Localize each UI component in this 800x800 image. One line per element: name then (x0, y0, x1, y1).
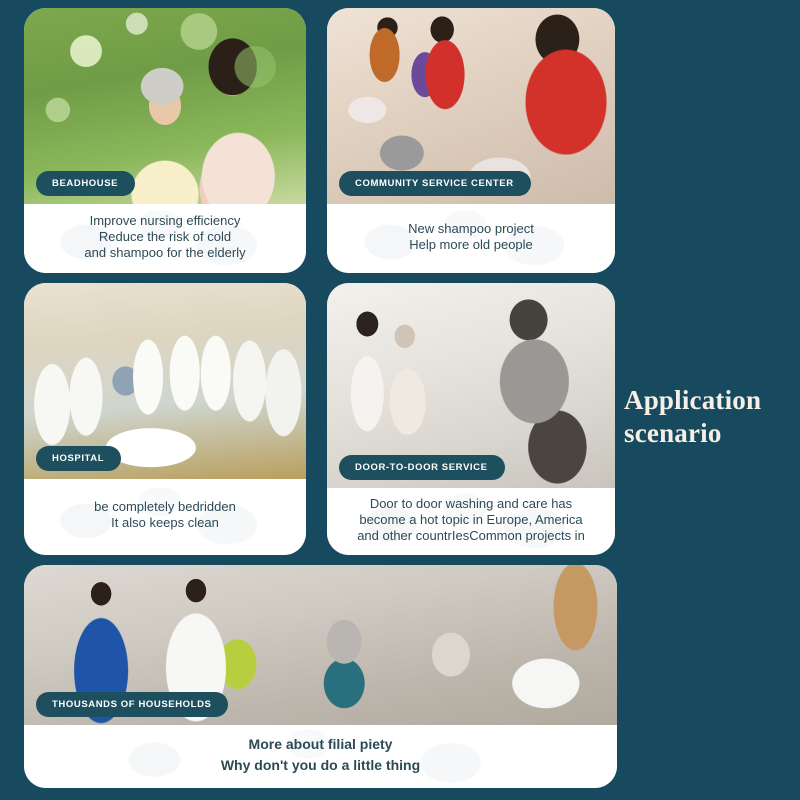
card-photo-households: THOUSANDS OF HOUSEHOLDS (24, 565, 617, 725)
badge-beadhouse: BEADHOUSE (36, 171, 135, 196)
scenario-card-beadhouse[interactable]: BEADHOUSE Improve nursing efficiency Red… (24, 8, 306, 273)
caption-line: and other countrIesCommon projects in (357, 528, 585, 544)
application-scenario-page: BEADHOUSE Improve nursing efficiency Red… (0, 0, 800, 800)
card-caption-households: More about filial piety Why don't you do… (24, 725, 617, 788)
card-photo-door-to-door: DOOR-TO-DOOR SERVICE (327, 283, 615, 488)
scenario-card-thousands-of-households[interactable]: THOUSANDS OF HOUSEHOLDS More about filia… (24, 565, 617, 788)
scenario-card-community-service-center[interactable]: COMMUNITY SERVICE CENTER New shampoo pro… (327, 8, 615, 273)
card-caption-hospital: be completely bedridden It also keeps cl… (24, 479, 306, 555)
card-caption-door-to-door: Door to door washing and care has become… (327, 488, 615, 555)
caption-line: More about filial piety (249, 734, 393, 755)
page-title: Application scenario (624, 384, 800, 450)
badge-community-service-center: COMMUNITY SERVICE CENTER (339, 171, 531, 196)
card-photo-community: COMMUNITY SERVICE CENTER (327, 8, 615, 204)
badge-hospital: HOSPITAL (36, 446, 121, 471)
card-caption-beadhouse: Improve nursing efficiency Reduce the ri… (24, 204, 306, 273)
card-photo-hospital: HOSPITAL (24, 283, 306, 479)
card-caption-community: New shampoo project Help more old people (327, 204, 615, 273)
caption-line: and shampoo for the elderly (84, 245, 245, 261)
page-title-line-1: Application (624, 384, 800, 417)
caption-line: Improve nursing efficiency (90, 213, 241, 229)
caption-line: Why don't you do a little thing (221, 755, 420, 776)
caption-line: Reduce the risk of cold (99, 229, 231, 245)
caption-line: Help more old people (409, 237, 533, 253)
caption-line: It also keeps clean (111, 515, 219, 531)
caption-line: New shampoo project (408, 221, 534, 237)
page-title-line-2: scenario (624, 417, 800, 450)
card-photo-beadhouse: BEADHOUSE (24, 8, 306, 204)
caption-line: Door to door washing and care has (370, 496, 572, 512)
caption-line: be completely bedridden (94, 499, 236, 515)
scenario-card-hospital[interactable]: HOSPITAL be completely bedridden It also… (24, 283, 306, 555)
scenario-card-door-to-door-service[interactable]: DOOR-TO-DOOR SERVICE Door to door washin… (327, 283, 615, 555)
caption-line: become a hot topic in Europe, America (359, 512, 582, 528)
badge-door-to-door-service: DOOR-TO-DOOR SERVICE (339, 455, 505, 480)
badge-thousands-of-households: THOUSANDS OF HOUSEHOLDS (36, 692, 228, 717)
